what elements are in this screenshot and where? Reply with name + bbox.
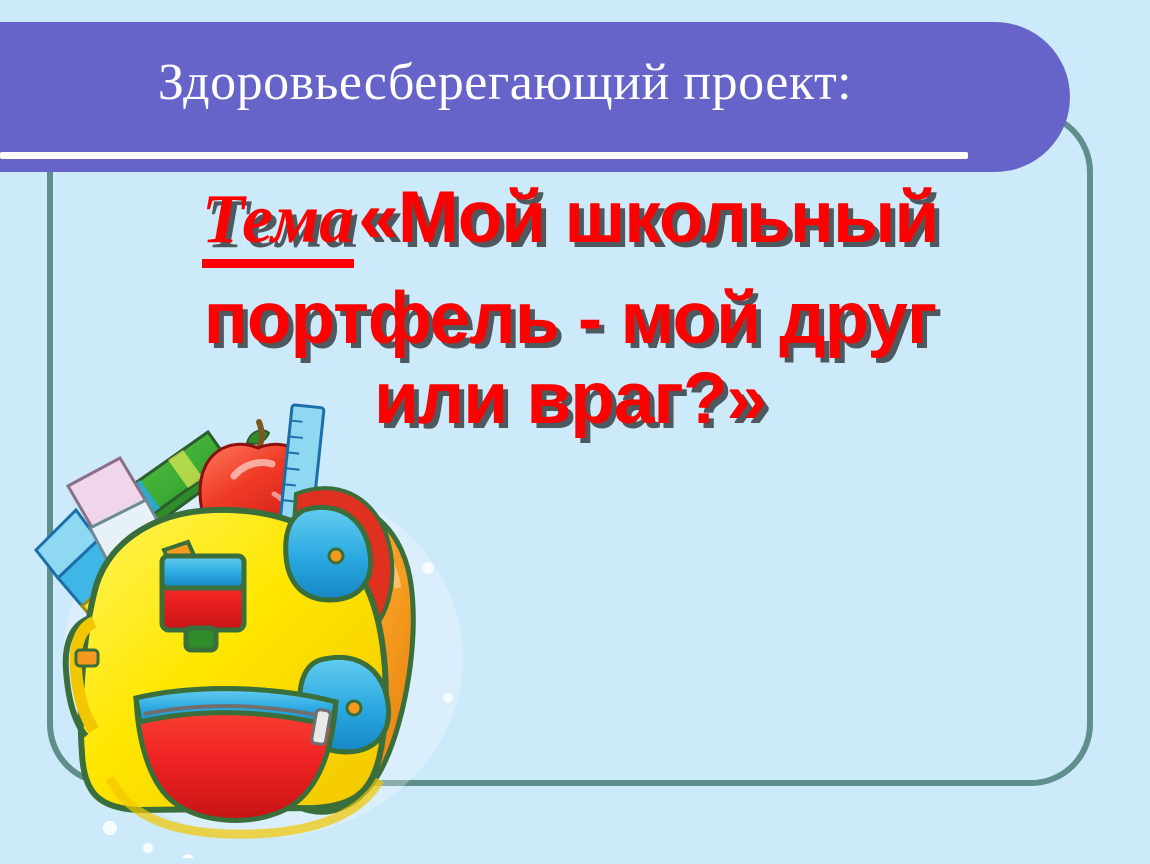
slide-canvas: Здоровьесберегающий проект: Тема«Мой шко…: [0, 0, 1150, 864]
title-line-1-text: «Мой школьный: [358, 183, 938, 253]
header-banner: Здоровьесберегающий проект:: [0, 22, 1070, 172]
school-backpack-illustration: [28, 398, 498, 858]
title-line-2: портфель - мой друг: [60, 284, 1080, 354]
topic-label: Тема: [202, 183, 355, 268]
title-line-1: Тема«Мой школьный: [60, 183, 1080, 268]
side-flap-top: [286, 507, 371, 600]
banner-divider: [0, 152, 968, 159]
slide-title-block: Тема«Мой школьный портфель - мой друг ил…: [60, 183, 1080, 434]
page-title: Здоровьесберегающий проект:: [0, 22, 1010, 142]
title-line-3: или враг?»: [60, 364, 1080, 434]
